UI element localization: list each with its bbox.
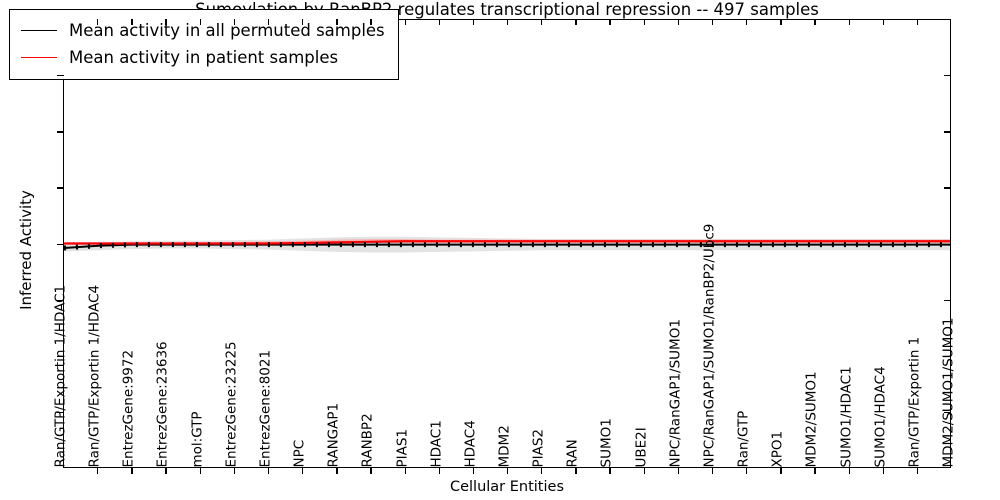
x-tick-label: MDM2/SUMO1 [806,371,820,467]
y-tick-mark-right [944,131,951,132]
x-tick-label: mol:GTP [191,411,205,467]
x-tick-mark-top [370,19,371,25]
y-tick-mark [57,131,64,132]
x-tick-mark-top [849,19,850,25]
x-tick-mark-top [678,19,679,25]
x-tick-mark [746,468,747,474]
x-tick-label: EntrezGene:23636 [157,341,171,467]
x-tick-label: EntrezGene:23225 [225,341,239,467]
x-tick-mark [712,468,713,474]
x-tick-mark [268,468,269,474]
x-tick-mark [473,468,474,474]
y-tick-mark-right [944,300,951,301]
legend-line-swatch-patient [21,57,57,58]
x-tick-label: Ran/GTP/Exportin 1/HDAC1 [55,284,69,467]
x-tick-mark-top [575,19,576,25]
y-tick-mark [57,244,64,245]
x-tick-mark-top [473,19,474,25]
y-tick-mark-right [944,187,951,188]
legend-item-permuted: Mean activity in all permuted samples [21,17,385,44]
x-tick-mark-top [644,19,645,25]
x-tick-mark [678,468,679,474]
x-tick-mark [131,468,132,474]
x-tick-mark-top [439,19,440,25]
legend-line-swatch-permuted [21,30,57,31]
y-axis-label: Inferred Activity [17,120,35,380]
x-tick-mark-top [302,19,303,25]
x-tick-mark [780,468,781,474]
y-tick-mark [57,187,64,188]
x-tick-mark [883,468,884,474]
x-tick-label: NPC [294,439,308,467]
x-tick-mark [370,468,371,474]
x-tick-mark [234,468,235,474]
x-tick-label: XPO1 [772,430,786,467]
x-axis-label: Cellular Entities [63,479,951,495]
x-tick-mark-top [336,19,337,25]
x-tick-mark-top [609,19,610,25]
x-tick-mark-top [268,19,269,25]
x-tick-mark-top [131,19,132,25]
x-tick-label: MDM2/SUMO1/SUMO1 [943,317,957,467]
x-tick-label: SUMO1/HDAC4 [874,366,888,467]
x-tick-label: SUMO1/HDAC1 [840,366,854,467]
x-tick-mark-top [712,19,713,25]
x-tick-label: MDM2 [499,425,513,467]
y-tick-mark-right [944,244,951,245]
x-tick-label: NPC/RanGAP1/SUMO1 [669,319,683,467]
x-tick-mark-top [97,19,98,25]
x-tick-mark [917,468,918,474]
x-tick-mark-top [746,19,747,25]
x-tick-label: Ran/GTP/Exportin 1/HDAC4 [89,284,103,467]
x-tick-mark-top [541,19,542,25]
figure-canvas: Sumoylation by RanBP2 regulates transcri… [0,0,1000,500]
x-tick-mark-top [780,19,781,25]
x-tick-label: EntrezGene:9972 [123,349,137,467]
x-tick-mark-top [165,19,166,25]
x-tick-mark [405,468,406,474]
x-tick-label: EntrezGene:8021 [259,349,273,467]
x-tick-label: RANGAP1 [328,402,342,467]
x-tick-mark [507,468,508,474]
x-tick-mark-top [883,19,884,25]
x-tick-label: PIAS1 [396,428,410,467]
x-tick-label: NPC/RanGAP1/SUMO1/RanBP2/Ubc9 [703,223,717,467]
x-tick-mark [165,468,166,474]
x-tick-mark-top [814,19,815,25]
x-tick-mark-top [200,19,201,25]
x-tick-label: Ran/GTP/Exportin 1 [908,336,922,467]
x-tick-mark [200,468,201,474]
x-tick-mark [644,468,645,474]
x-tick-label: RANBP2 [362,413,376,467]
x-tick-mark [575,468,576,474]
x-tick-mark-top [917,19,918,25]
x-tick-label: Ran/GTP [738,410,752,467]
x-tick-mark [541,468,542,474]
x-tick-mark [849,468,850,474]
x-tick-mark [336,468,337,474]
x-tick-label: UBE2I [635,427,649,467]
x-tick-mark [97,468,98,474]
y-tick-mark [57,75,64,76]
x-tick-mark [302,468,303,474]
x-tick-label: PIAS2 [533,428,547,467]
x-tick-label: RAN [567,439,581,467]
chart-legend: Mean activity in all permuted samples Me… [9,9,399,80]
x-tick-mark-top [405,19,406,25]
x-tick-mark [609,468,610,474]
x-tick-label: SUMO1 [601,418,615,467]
x-tick-label: HDAC4 [464,420,478,467]
x-tick-mark-top [234,19,235,25]
legend-label-patient: Mean activity in patient samples [69,48,338,67]
x-tick-label: HDAC1 [430,420,444,467]
x-tick-mark-top [507,19,508,25]
x-tick-mark [814,468,815,474]
legend-item-patient: Mean activity in patient samples [21,44,385,71]
x-tick-mark [439,468,440,474]
y-tick-mark-right [944,75,951,76]
